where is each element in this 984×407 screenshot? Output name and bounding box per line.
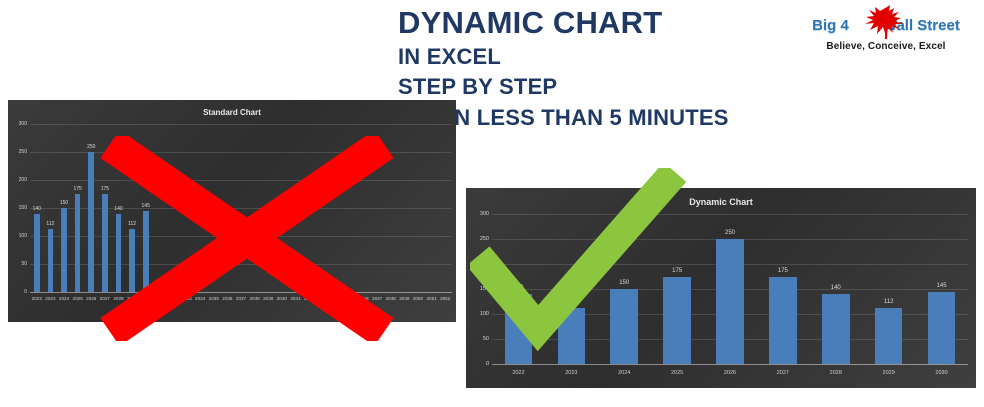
x-axis-tick-label: 2048 bbox=[386, 296, 396, 301]
x-axis-tick-label: 2022 bbox=[32, 296, 42, 301]
x-axis-line bbox=[30, 292, 452, 293]
x-axis-tick-label: 2022 bbox=[512, 370, 524, 376]
x-axis-tick-label: 2029 bbox=[127, 296, 137, 301]
x-axis-tick-label: 2039 bbox=[263, 296, 273, 301]
page-title: DYNAMIC CHART IN EXCEL STEP BY STEP IN L… bbox=[398, 6, 818, 131]
chart-bar[interactable] bbox=[610, 289, 638, 364]
x-axis-tick-label: 2028 bbox=[830, 370, 842, 376]
bar-data-label: 175 bbox=[672, 268, 682, 274]
x-axis-tick-label: 2023 bbox=[45, 296, 55, 301]
x-axis-tick-label: 2023 bbox=[565, 370, 577, 376]
standard-chart-title: Standard Chart bbox=[8, 108, 456, 117]
x-axis-tick-label: 2051 bbox=[426, 296, 436, 301]
chart-bar[interactable] bbox=[143, 211, 149, 292]
x-axis-tick-label: 2030 bbox=[935, 370, 947, 376]
x-axis-tick-label: 2046 bbox=[358, 296, 368, 301]
x-axis-tick-label: 2025 bbox=[671, 370, 683, 376]
x-axis-tick-label: 2028 bbox=[113, 296, 123, 301]
title-line-2: IN EXCEL bbox=[398, 45, 818, 70]
x-axis-tick-label: 2038 bbox=[249, 296, 259, 301]
x-axis-tick-label: 2050 bbox=[413, 296, 423, 301]
bar-data-label: 112 bbox=[567, 299, 577, 305]
chart-bar[interactable] bbox=[34, 214, 40, 292]
x-axis-tick-label: 2026 bbox=[724, 370, 736, 376]
x-axis-tick-label: 2030 bbox=[141, 296, 151, 301]
x-axis-tick-label: 2042 bbox=[304, 296, 314, 301]
title-line-4: IN LESS THAN 5 MINUTES bbox=[398, 106, 818, 131]
bar-data-label: 140 bbox=[831, 285, 841, 291]
x-axis-tick-label: 2036 bbox=[222, 296, 232, 301]
y-axis-tick-label: 200 bbox=[19, 177, 27, 183]
x-axis-tick-label: 2043 bbox=[318, 296, 328, 301]
standard-chart-panel[interactable]: Standard Chart 0501001502002503002022202… bbox=[8, 100, 456, 322]
y-axis-tick-label: 150 bbox=[19, 205, 27, 211]
chart-bar[interactable] bbox=[716, 239, 744, 364]
gridline bbox=[30, 124, 452, 125]
dynamic-chart-panel[interactable]: Dynamic Chart 05010015020025030020222023… bbox=[466, 188, 976, 388]
chart-bar[interactable] bbox=[875, 308, 903, 364]
x-axis-tick-label: 2024 bbox=[618, 370, 630, 376]
bar-data-label: 140 bbox=[513, 285, 523, 291]
logo-wordmark: Big 4 Wall Street bbox=[806, 10, 966, 40]
y-axis-tick-label: 250 bbox=[480, 236, 489, 242]
x-axis-tick-label: 2035 bbox=[209, 296, 219, 301]
y-axis-tick-label: 300 bbox=[480, 211, 489, 217]
bar-data-label: 112 bbox=[46, 221, 54, 227]
chart-bar[interactable] bbox=[116, 214, 122, 292]
chart-bar[interactable] bbox=[505, 294, 533, 364]
y-axis-tick-label: 100 bbox=[19, 233, 27, 239]
x-axis-tick-label: 2041 bbox=[290, 296, 300, 301]
title-line-3: STEP BY STEP bbox=[398, 75, 818, 100]
bar-data-label: 175 bbox=[73, 186, 81, 192]
chart-bar[interactable] bbox=[88, 152, 94, 292]
chart-bar[interactable] bbox=[928, 292, 956, 365]
dynamic-chart-plot-area: 0501001502002503002022202320242025202620… bbox=[492, 214, 968, 364]
y-axis-tick-label: 150 bbox=[480, 286, 489, 292]
gridline bbox=[492, 214, 968, 215]
logo-text-left: Big 4 bbox=[812, 17, 849, 34]
x-axis-tick-label: 2025 bbox=[73, 296, 83, 301]
bar-data-label: 150 bbox=[619, 280, 629, 286]
x-axis-tick-label: 2029 bbox=[883, 370, 895, 376]
bar-data-label: 140 bbox=[114, 206, 122, 212]
x-axis-tick-label: 2033 bbox=[181, 296, 191, 301]
bar-data-label: 112 bbox=[884, 299, 894, 305]
chart-bar[interactable] bbox=[129, 229, 135, 292]
x-axis-tick-label: 2027 bbox=[777, 370, 789, 376]
bar-data-label: 175 bbox=[101, 186, 109, 192]
bar-data-label: 112 bbox=[128, 221, 136, 227]
x-axis-tick-label: 2031 bbox=[154, 296, 164, 301]
chart-bar[interactable] bbox=[663, 277, 691, 365]
x-axis-tick-label: 2027 bbox=[100, 296, 110, 301]
x-axis-tick-label: 2026 bbox=[86, 296, 96, 301]
x-axis-line bbox=[492, 364, 968, 365]
bar-data-label: 140 bbox=[33, 206, 41, 212]
y-axis-tick-label: 50 bbox=[483, 336, 489, 342]
chart-bar[interactable] bbox=[75, 194, 81, 292]
title-line-1: DYNAMIC CHART bbox=[398, 6, 818, 41]
chart-bar[interactable] bbox=[48, 229, 54, 292]
standard-chart-plot-area: 0501001502002503002022202320242025202620… bbox=[30, 124, 452, 292]
x-axis-tick-label: 2044 bbox=[331, 296, 341, 301]
x-axis-tick-label: 2052 bbox=[440, 296, 450, 301]
bar-data-label: 145 bbox=[142, 203, 150, 209]
chart-bar[interactable] bbox=[558, 308, 586, 364]
y-axis-tick-label: 100 bbox=[480, 311, 489, 317]
dynamic-chart-title: Dynamic Chart bbox=[466, 197, 976, 207]
x-axis-tick-label: 2040 bbox=[277, 296, 287, 301]
chart-bar[interactable] bbox=[769, 277, 797, 365]
x-axis-tick-label: 2024 bbox=[59, 296, 69, 301]
bar-data-label: 250 bbox=[87, 144, 95, 150]
bar-data-label: 150 bbox=[60, 200, 68, 206]
x-axis-tick-label: 2047 bbox=[372, 296, 382, 301]
chart-bar[interactable] bbox=[102, 194, 108, 292]
bar-data-label: 175 bbox=[778, 268, 788, 274]
y-axis-tick-label: 50 bbox=[21, 261, 27, 267]
y-axis-tick-label: 200 bbox=[480, 261, 489, 267]
chart-bar[interactable] bbox=[822, 294, 850, 364]
brand-logo: Big 4 Wall Street Believe, Conceive, Exc… bbox=[806, 10, 966, 66]
bar-data-label: 145 bbox=[937, 283, 947, 289]
eagle-icon bbox=[863, 5, 909, 43]
x-axis-tick-label: 2049 bbox=[399, 296, 409, 301]
bar-data-label: 250 bbox=[725, 230, 735, 236]
x-axis-tick-label: 2037 bbox=[236, 296, 246, 301]
y-axis-tick-label: 0 bbox=[486, 361, 489, 367]
chart-bar[interactable] bbox=[61, 208, 67, 292]
x-axis-tick-label: 2045 bbox=[345, 296, 355, 301]
y-axis-tick-label: 0 bbox=[24, 289, 27, 295]
x-axis-tick-label: 2034 bbox=[195, 296, 205, 301]
y-axis-tick-label: 300 bbox=[19, 121, 27, 127]
x-axis-tick-label: 2032 bbox=[168, 296, 178, 301]
y-axis-tick-label: 250 bbox=[19, 149, 27, 155]
